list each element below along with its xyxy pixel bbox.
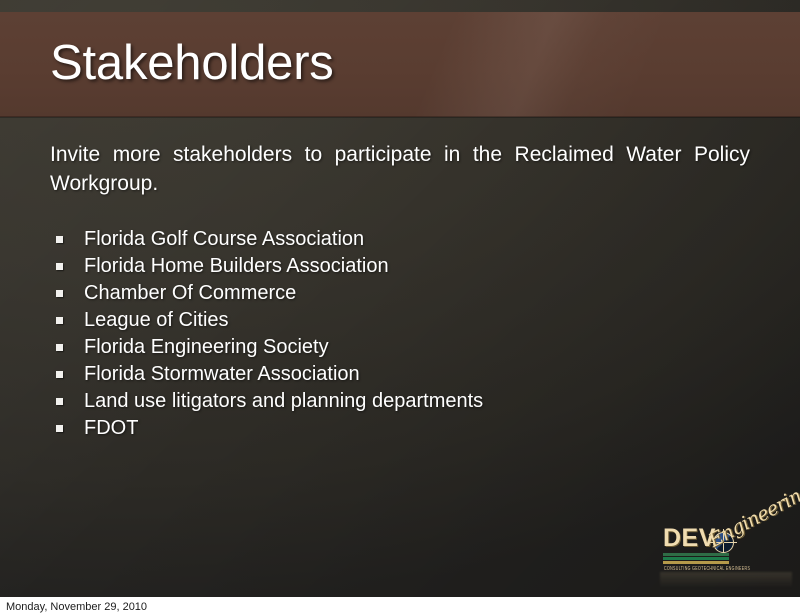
square-bullet-icon: [56, 344, 63, 351]
list-item: Land use litigators and planning departm…: [54, 388, 754, 415]
square-bullet-icon: [56, 371, 63, 378]
list-item-label: Land use litigators and planning departm…: [84, 390, 483, 412]
title-banner: Stakeholders: [0, 12, 800, 117]
list-item: Florida Home Builders Association: [54, 253, 754, 280]
list-item: Chamber Of Commerce: [54, 280, 754, 307]
footer-strip: Monday, November 29, 2010: [0, 597, 800, 616]
stakeholder-list: Florida Golf Course Association Florida …: [54, 226, 754, 442]
list-item-label: Florida Home Builders Association: [84, 255, 389, 277]
list-item-label: Chamber Of Commerce: [84, 282, 296, 304]
square-bullet-icon: [56, 425, 63, 432]
list-item-label: FDOT: [84, 417, 138, 439]
slide-title: Stakeholders: [50, 33, 334, 93]
presentation-viewer: Stakeholders Invite more stakeholders to…: [0, 0, 800, 616]
square-bullet-icon: [56, 263, 63, 270]
list-item: FDOT: [54, 415, 754, 442]
logo-bar-green-dark: [663, 553, 729, 556]
slide-body: Invite more stakeholders to participate …: [50, 140, 750, 198]
list-item: Florida Golf Course Association: [54, 226, 754, 253]
list-item: League of Cities: [54, 307, 754, 334]
logo-bar-green: [663, 557, 729, 560]
list-item-label: League of Cities: [84, 309, 229, 331]
slide-canvas: Stakeholders Invite more stakeholders to…: [0, 0, 800, 597]
square-bullet-icon: [56, 398, 63, 405]
square-bullet-icon: [56, 290, 63, 297]
logo-bar-gold: [663, 561, 729, 564]
logo-reflection: [660, 572, 792, 588]
list-item-label: Florida Engineering Society: [84, 336, 329, 358]
devo-engineering-logo: DEV CONSULTING GEOTECHNICAL ENGINEERS En…: [660, 522, 792, 584]
list-item: Florida Engineering Society: [54, 334, 754, 361]
square-bullet-icon: [56, 236, 63, 243]
intro-paragraph: Invite more stakeholders to participate …: [50, 140, 750, 198]
list-item-label: Florida Stormwater Association: [84, 363, 360, 385]
list-item: Florida Stormwater Association: [54, 361, 754, 388]
list-item-label: Florida Golf Course Association: [84, 228, 364, 250]
square-bullet-icon: [56, 317, 63, 324]
logo-script-engineering: Engineering: [706, 481, 800, 551]
footer-date: Monday, November 29, 2010: [6, 600, 147, 614]
